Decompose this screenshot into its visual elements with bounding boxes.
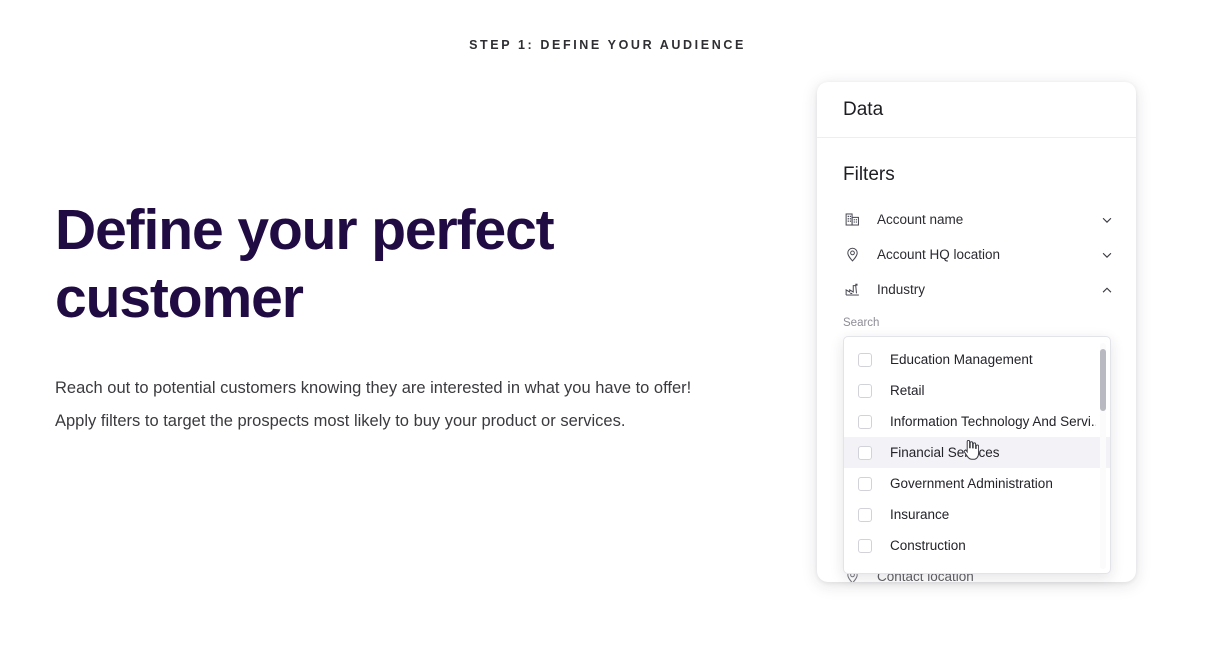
industry-options-dropdown[interactable]: Education Management Retail Information … [843,336,1111,574]
page-root: STEP 1: DEFINE YOUR AUDIENCE Define your… [0,0,1215,650]
list-item[interactable]: Information Technology And Servi... [844,406,1110,437]
list-item[interactable]: Financial Services [844,437,1110,468]
data-panel-title: Data [843,99,883,121]
checkbox-construction[interactable] [858,539,872,553]
filter-label-industry: Industry [877,282,1100,297]
filter-label-account-hq-location: Account HQ location [877,247,1100,262]
checkbox-information-technology[interactable] [858,415,872,429]
list-item-label: Financial Services [890,445,1000,460]
list-item[interactable]: Insurance [844,499,1110,530]
list-item-label: Government Administration [890,476,1053,491]
page-title: Define your perfect customer [55,196,575,332]
chevron-down-icon[interactable] [1100,248,1114,262]
chevron-up-icon[interactable] [1100,283,1114,297]
list-item-label: Retail [890,383,925,398]
filter-row-industry[interactable]: Industry [817,272,1136,307]
list-item[interactable]: Construction [844,530,1110,561]
filter-label-account-name: Account name [877,212,1100,227]
list-item-label: Information Technology And Servi... [890,414,1096,429]
industry-search-label: Search [817,307,1136,329]
checkbox-education-management[interactable] [858,353,872,367]
dropdown-scrollbar-thumb[interactable] [1100,349,1106,411]
checkbox-retail[interactable] [858,384,872,398]
list-item[interactable]: Education Management [844,344,1110,375]
filter-row-account-name[interactable]: Account name [817,202,1136,237]
list-item-label: Insurance [890,507,949,522]
chevron-down-icon[interactable] [1100,213,1114,227]
filter-row-account-hq-location[interactable]: Account HQ location [817,237,1136,272]
map-pin-icon [843,246,861,264]
data-panel-header: Data [817,82,1136,138]
list-item-label: Education Management [890,352,1033,367]
factory-icon [843,281,861,299]
list-item[interactable]: Government Administration [844,468,1110,499]
checkbox-insurance[interactable] [858,508,872,522]
list-item-label: Construction [890,538,966,553]
filters-section-title: Filters [817,138,1136,186]
step-eyebrow-label: STEP 1: DEFINE YOUR AUDIENCE [0,38,1215,52]
hero-description: Reach out to potential customers knowing… [55,372,700,438]
office-building-icon [843,211,861,229]
filter-list: Account name Account HQ location [817,202,1136,307]
list-item[interactable]: Retail [844,375,1110,406]
hero-column: Define your perfect customer Reach out t… [55,196,715,438]
checkbox-government-administration[interactable] [858,477,872,491]
checkbox-financial-services[interactable] [858,446,872,460]
